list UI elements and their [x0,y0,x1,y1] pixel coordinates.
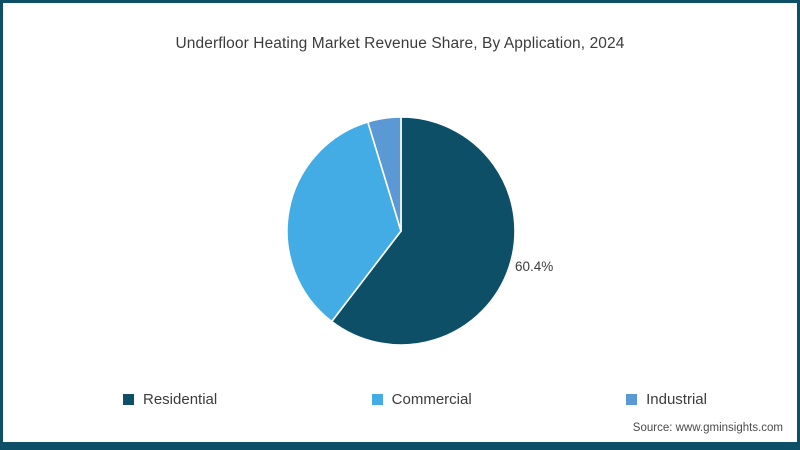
chart-legend: Residential Commercial Industrial [123,388,707,410]
pie-slices [287,117,515,345]
legend-item-commercial[interactable]: Commercial [372,392,472,407]
legend-item-residential[interactable]: Residential [123,392,217,407]
legend-item-label: Residential [143,392,217,407]
legend-item-label: Commercial [392,392,472,407]
legend-swatch-icon [123,394,134,405]
chart-canvas: Underfloor Heating Market Revenue Share,… [0,0,800,450]
legend-item-label: Industrial [646,392,707,407]
bottom-rule [3,442,797,447]
pie-chart [281,111,521,351]
legend-swatch-icon [372,394,383,405]
pie-slice-label-residential: 60.4% [515,259,553,274]
legend-item-industrial[interactable]: Industrial [626,392,707,407]
page-title: Underfloor Heating Market Revenue Share,… [3,35,797,53]
source-attribution: Source: www.gminsights.com [633,422,783,434]
pie-chart-svg [281,111,521,351]
legend-swatch-icon [626,394,637,405]
